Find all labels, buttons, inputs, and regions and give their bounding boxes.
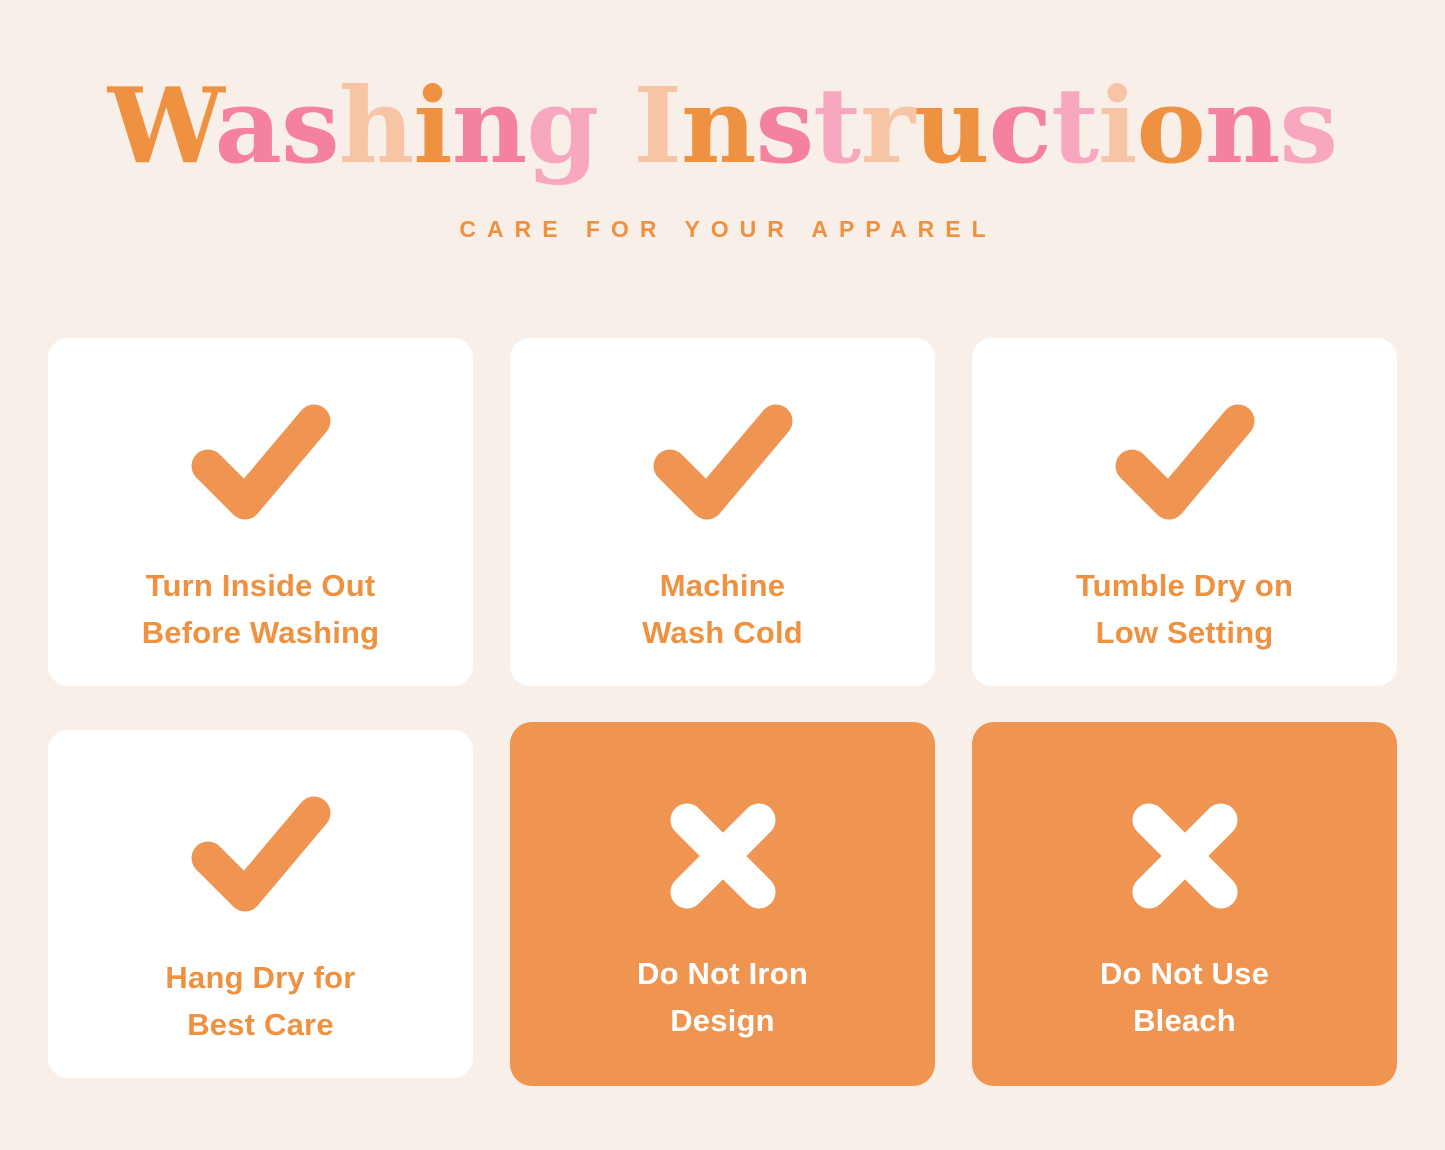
title-letter-19: s [1280,64,1338,187]
care-card-label: Tumble Dry on Low Setting [1076,562,1293,656]
check-icon [1114,404,1256,520]
care-card-do-not-bleach[interactable]: Do Not Use Bleach [972,722,1397,1086]
title-letter-13: u [914,64,989,187]
care-instruction-grid: Turn Inside Out Before Washing Machine W… [48,338,1397,1078]
care-card-do-not-iron[interactable]: Do Not Iron Design [510,722,935,1086]
title-letter-3: h [339,64,414,187]
title-letter-2: s [281,64,339,187]
title-letter-14: c [989,64,1051,187]
check-icon [190,796,332,912]
title-letter-11: t [813,64,860,187]
care-card-turn-inside-out[interactable]: Turn Inside Out Before Washing [48,338,473,686]
care-card-label: Turn Inside Out Before Washing [142,562,380,656]
check-icon [190,404,332,520]
care-card-label: Do Not Use Bleach [1100,950,1269,1044]
care-card-label: Do Not Iron Design [637,950,808,1044]
poster-header: Washing Instructions Care for your appar… [0,0,1445,243]
title-letter-15: t [1051,64,1098,187]
care-card-tumble-dry-low[interactable]: Tumble Dry on Low Setting [972,338,1397,686]
care-card-label: Hang Dry for Best Care [165,954,355,1048]
title-letter-8: I [633,64,681,187]
title-letter-0: W [108,64,215,187]
title-letter-17: o [1137,64,1205,187]
cross-icon [1127,798,1243,914]
title-letter-4: i [413,64,452,187]
care-card-machine-wash-cold[interactable]: Machine Wash Cold [510,338,935,686]
title-letter-5: n [452,64,527,187]
title-letter-9: n [681,64,756,187]
title-letter-1: a [215,64,281,187]
page-title: Washing Instructions [0,74,1445,178]
title-letter-10: s [756,64,814,187]
title-letter-12: r [860,64,914,187]
title-letter-18: n [1205,64,1280,187]
check-icon [652,404,794,520]
washing-instructions-poster: Washing Instructions Care for your appar… [0,0,1445,1150]
title-letter-6: g [526,64,598,187]
cross-icon [665,798,781,914]
title-letter-16: i [1098,64,1137,187]
care-card-label: Machine Wash Cold [642,562,803,656]
title-letter-7 [598,64,633,187]
care-card-hang-dry[interactable]: Hang Dry for Best Care [48,730,473,1078]
page-subtitle: Care for your apparel [0,216,1445,243]
